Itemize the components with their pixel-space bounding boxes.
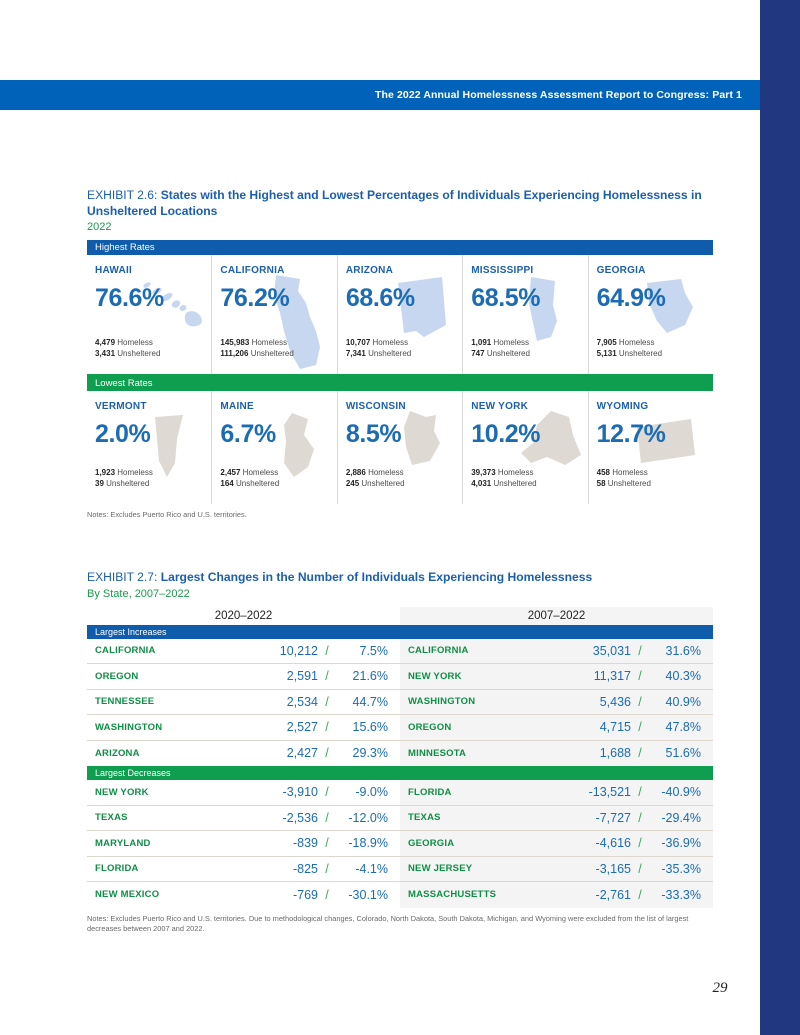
row-separator: /	[318, 836, 336, 850]
highest-rates-cards: HAWAII 76.6% 4,479 Homeless 3,431 Unshel…	[87, 255, 713, 376]
row-state: FLORIDA	[95, 863, 252, 874]
card-percent: 2.0%	[95, 420, 211, 448]
card-homeless-count: 7,905	[597, 338, 617, 347]
card-unsheltered-count: 5,131	[597, 349, 617, 358]
card-unsheltered-count: 58	[597, 479, 606, 488]
card-unsheltered-label: Unsheltered	[608, 479, 651, 488]
card-homeless-count: 2,886	[346, 468, 366, 477]
row-state: GEORGIA	[408, 838, 565, 849]
row-count: 2,534	[252, 695, 318, 709]
card-state-name: WISCONSIN	[346, 401, 462, 412]
state-card-new-york: NEW YORK 10.2% 39,373 Homeless 4,031 Uns…	[463, 391, 588, 504]
table-row: CALIFORNIA 10,212 / 7.5%	[87, 639, 400, 665]
card-unsheltered-label: Unsheltered	[236, 479, 279, 488]
exhibit-2-6-title-text: States with the Highest and Lowest Perce…	[87, 188, 702, 218]
card-percent: 76.6%	[95, 284, 211, 312]
state-card-georgia: GEORGIA 64.9% 7,905 Homeless 5,131 Unshe…	[589, 255, 713, 374]
exhibit-2-6: EXHIBIT 2.6: States with the Highest and…	[87, 188, 713, 520]
row-percent: 31.6%	[649, 644, 701, 658]
row-percent: -30.1%	[336, 888, 388, 902]
row-separator: /	[631, 669, 649, 683]
card-stats: 2,457 Homeless 164 Unsheltered	[220, 468, 279, 489]
card-unsheltered-count: 3,431	[95, 349, 115, 358]
table-row: OREGON 4,715 / 47.8%	[400, 715, 713, 741]
card-stats: 4,479 Homeless 3,431 Unsheltered	[95, 338, 160, 359]
state-card-mississippi: MISSISSIPPI 68.5% 1,091 Homeless 747 Uns…	[463, 255, 588, 374]
largest-increases-rows: CALIFORNIA 10,212 / 7.5% OREGON 2,591 / …	[87, 639, 713, 767]
row-count: -769	[252, 888, 318, 902]
card-state-name: CALIFORNIA	[220, 265, 336, 276]
table-row: NEW YORK -3,910 / -9.0%	[87, 780, 400, 806]
row-separator: /	[631, 695, 649, 709]
table-row: CALIFORNIA 35,031 / 31.6%	[400, 639, 713, 665]
exhibit-2-6-label: EXHIBIT 2.6:	[87, 188, 157, 202]
table-row: MINNESOTA 1,688 / 51.6%	[400, 741, 713, 767]
card-homeless-count: 1,091	[471, 338, 491, 347]
card-state-name: HAWAII	[95, 265, 211, 276]
largest-decreases-band: Largest Decreases	[87, 766, 713, 780]
table-row: TEXAS -7,727 / -29.4%	[400, 806, 713, 832]
row-percent: -18.9%	[336, 836, 388, 850]
card-state-name: MISSISSIPPI	[471, 265, 587, 276]
card-unsheltered-count: 747	[471, 349, 484, 358]
row-count: 10,212	[252, 644, 318, 658]
row-count: -825	[252, 862, 318, 876]
card-stats: 458 Homeless 58 Unsheltered	[597, 468, 651, 489]
row-percent: 7.5%	[336, 644, 388, 658]
card-homeless-label: Homeless	[612, 468, 648, 477]
row-percent: -36.9%	[649, 836, 701, 850]
row-percent: 29.3%	[336, 746, 388, 760]
largest-decreases-rows: NEW YORK -3,910 / -9.0% TEXAS -2,536 / -…	[87, 780, 713, 908]
row-state: CALIFORNIA	[95, 645, 252, 656]
card-unsheltered-label: Unsheltered	[106, 479, 149, 488]
row-separator: /	[631, 888, 649, 902]
row-state: OREGON	[95, 671, 252, 682]
row-state: WASHINGTON	[95, 722, 252, 733]
card-unsheltered-label: Unsheltered	[493, 479, 536, 488]
table-row: NEW JERSEY -3,165 / -35.3%	[400, 857, 713, 883]
row-state: OREGON	[408, 722, 565, 733]
row-percent: -33.3%	[649, 888, 701, 902]
state-card-vermont: VERMONT 2.0% 1,923 Homeless 39 Unshelter…	[87, 391, 212, 504]
card-unsheltered-count: 4,031	[471, 479, 491, 488]
card-stats: 145,983 Homeless 111,206 Unsheltered	[220, 338, 293, 359]
table-row: TENNESSEE 2,534 / 44.7%	[87, 690, 400, 716]
largest-decreases-band-right	[400, 766, 713, 780]
row-count: 5,436	[565, 695, 631, 709]
row-state: MARYLAND	[95, 838, 252, 849]
row-count: 2,591	[252, 669, 318, 683]
row-state: FLORIDA	[408, 787, 565, 798]
card-state-name: NEW YORK	[471, 401, 587, 412]
card-homeless-count: 1,923	[95, 468, 115, 477]
running-header-band: The 2022 Annual Homelessness Assessment …	[0, 80, 760, 110]
card-homeless-label: Homeless	[117, 468, 153, 477]
card-percent: 12.7%	[597, 420, 713, 448]
exhibit-2-7: EXHIBIT 2.7: Largest Changes in the Numb…	[87, 570, 713, 934]
largest-increases-right: CALIFORNIA 35,031 / 31.6% NEW YORK 11,31…	[400, 639, 713, 767]
card-unsheltered-label: Unsheltered	[117, 349, 160, 358]
page-edge-strip	[760, 0, 800, 1035]
row-count: 4,715	[565, 720, 631, 734]
row-state: NEW YORK	[95, 787, 252, 798]
exhibit-2-6-notes: Notes: Excludes Puerto Rico and U.S. ter…	[87, 510, 713, 520]
row-percent: 21.6%	[336, 669, 388, 683]
card-percent: 68.5%	[471, 284, 587, 312]
card-homeless-count: 145,983	[220, 338, 249, 347]
card-state-name: WYOMING	[597, 401, 713, 412]
exhibit-2-7-column-headers: 2020–2022 2007–2022	[87, 607, 713, 625]
row-separator: /	[631, 746, 649, 760]
table-row: OREGON 2,591 / 21.6%	[87, 664, 400, 690]
card-homeless-count: 4,479	[95, 338, 115, 347]
row-separator: /	[318, 644, 336, 658]
card-stats: 7,905 Homeless 5,131 Unsheltered	[597, 338, 662, 359]
row-separator: /	[318, 811, 336, 825]
exhibit-2-7-subtitle: By State, 2007–2022	[87, 587, 713, 601]
largest-decreases-right: FLORIDA -13,521 / -40.9% TEXAS -7,727 / …	[400, 780, 713, 908]
running-header-text: The 2022 Annual Homelessness Assessment …	[375, 89, 742, 101]
card-stats: 39,373 Homeless 4,031 Unsheltered	[471, 468, 536, 489]
card-percent: 6.7%	[220, 420, 336, 448]
row-count: -13,521	[565, 785, 631, 799]
column-header-2020-2022: 2020–2022	[87, 607, 400, 625]
card-stats: 2,886 Homeless 245 Unsheltered	[346, 468, 405, 489]
table-row: NEW MEXICO -769 / -30.1%	[87, 882, 400, 908]
table-row: WASHINGTON 5,436 / 40.9%	[400, 690, 713, 716]
card-homeless-label: Homeless	[252, 338, 288, 347]
highest-rates-band: Highest Rates	[87, 240, 713, 255]
table-row: WASHINGTON 2,527 / 15.6%	[87, 715, 400, 741]
state-card-wisconsin: WISCONSIN 8.5% 2,886 Homeless 245 Unshel…	[338, 391, 463, 504]
row-count: -3,910	[252, 785, 318, 799]
row-count: -2,536	[252, 811, 318, 825]
row-percent: -4.1%	[336, 862, 388, 876]
row-state: TENNESSEE	[95, 696, 252, 707]
column-header-2007-2022: 2007–2022	[400, 607, 713, 625]
row-separator: /	[318, 720, 336, 734]
card-unsheltered-label: Unsheltered	[487, 349, 530, 358]
row-separator: /	[318, 862, 336, 876]
row-count: -4,616	[565, 836, 631, 850]
row-count: -839	[252, 836, 318, 850]
exhibit-2-7-title-text: Largest Changes in the Number of Individ…	[161, 570, 592, 584]
row-state: CALIFORNIA	[408, 645, 565, 656]
card-unsheltered-label: Unsheltered	[368, 349, 411, 358]
row-percent: -40.9%	[649, 785, 701, 799]
card-homeless-label: Homeless	[493, 338, 529, 347]
exhibit-2-7-title: EXHIBIT 2.7: Largest Changes in the Numb…	[87, 570, 713, 586]
card-homeless-label: Homeless	[373, 338, 409, 347]
row-percent: -29.4%	[649, 811, 701, 825]
row-state: MINNESOTA	[408, 748, 565, 759]
state-card-california: CALIFORNIA 76.2% 145,983 Homeless 111,20…	[212, 255, 337, 374]
card-unsheltered-label: Unsheltered	[619, 349, 662, 358]
exhibit-2-6-title: EXHIBIT 2.6: States with the Highest and…	[87, 188, 713, 219]
row-separator: /	[631, 785, 649, 799]
row-percent: -9.0%	[336, 785, 388, 799]
table-row: MARYLAND -839 / -18.9%	[87, 831, 400, 857]
row-state: TEXAS	[408, 812, 565, 823]
row-separator: /	[318, 746, 336, 760]
largest-increases-left: CALIFORNIA 10,212 / 7.5% OREGON 2,591 / …	[87, 639, 400, 767]
card-stats: 1,923 Homeless 39 Unsheltered	[95, 468, 153, 489]
card-homeless-count: 458	[597, 468, 610, 477]
card-stats: 1,091 Homeless 747 Unsheltered	[471, 338, 530, 359]
row-percent: 40.3%	[649, 669, 701, 683]
row-percent: -35.3%	[649, 862, 701, 876]
row-separator: /	[318, 669, 336, 683]
table-row: NEW YORK 11,317 / 40.3%	[400, 664, 713, 690]
row-separator: /	[318, 695, 336, 709]
table-row: TEXAS -2,536 / -12.0%	[87, 806, 400, 832]
card-homeless-label: Homeless	[117, 338, 153, 347]
row-percent: 47.8%	[649, 720, 701, 734]
lowest-rates-band: Lowest Rates	[87, 376, 713, 391]
row-count: 2,427	[252, 746, 318, 760]
card-state-name: GEORGIA	[597, 265, 713, 276]
card-percent: 8.5%	[346, 420, 462, 448]
row-separator: /	[631, 720, 649, 734]
card-unsheltered-count: 245	[346, 479, 359, 488]
card-homeless-label: Homeless	[368, 468, 404, 477]
row-separator: /	[631, 836, 649, 850]
card-unsheltered-count: 164	[220, 479, 233, 488]
row-separator: /	[318, 785, 336, 799]
card-state-name: ARIZONA	[346, 265, 462, 276]
row-separator: /	[631, 862, 649, 876]
card-unsheltered-count: 39	[95, 479, 104, 488]
largest-decreases-band-label: Largest Decreases	[87, 766, 400, 780]
largest-increases-band-label: Largest Increases	[87, 625, 400, 639]
largest-decreases-left: NEW YORK -3,910 / -9.0% TEXAS -2,536 / -…	[87, 780, 400, 908]
row-count: 11,317	[565, 669, 631, 683]
table-row: FLORIDA -13,521 / -40.9%	[400, 780, 713, 806]
card-homeless-label: Homeless	[498, 468, 534, 477]
largest-increases-band-right	[400, 625, 713, 639]
row-percent: -12.0%	[336, 811, 388, 825]
row-count: -2,761	[565, 888, 631, 902]
row-percent: 44.7%	[336, 695, 388, 709]
state-card-arizona: ARIZONA 68.6% 10,707 Homeless 7,341 Unsh…	[338, 255, 463, 374]
row-separator: /	[631, 644, 649, 658]
card-state-name: MAINE	[220, 401, 336, 412]
card-homeless-label: Homeless	[619, 338, 655, 347]
state-card-hawaii: HAWAII 76.6% 4,479 Homeless 3,431 Unshel…	[87, 255, 212, 374]
row-separator: /	[318, 888, 336, 902]
state-card-maine: MAINE 6.7% 2,457 Homeless 164 Unsheltere…	[212, 391, 337, 504]
row-state: NEW MEXICO	[95, 889, 252, 900]
row-state: NEW YORK	[408, 671, 565, 682]
table-row: MASSACHUSETTS -2,761 / -33.3%	[400, 882, 713, 908]
card-unsheltered-count: 111,206	[220, 349, 248, 358]
row-state: ARIZONA	[95, 748, 252, 759]
lowest-rates-cards: VERMONT 2.0% 1,923 Homeless 39 Unshelter…	[87, 391, 713, 504]
row-state: NEW JERSEY	[408, 863, 565, 874]
card-homeless-count: 2,457	[220, 468, 240, 477]
card-unsheltered-count: 7,341	[346, 349, 366, 358]
row-percent: 51.6%	[649, 746, 701, 760]
exhibit-2-7-notes: Notes: Excludes Puerto Rico and U.S. ter…	[87, 914, 705, 934]
state-card-wyoming: WYOMING 12.7% 458 Homeless 58 Unsheltere…	[589, 391, 713, 504]
row-percent: 40.9%	[649, 695, 701, 709]
table-row: GEORGIA -4,616 / -36.9%	[400, 831, 713, 857]
row-count: -3,165	[565, 862, 631, 876]
exhibit-2-7-label: EXHIBIT 2.7:	[87, 570, 157, 584]
card-percent: 10.2%	[471, 420, 587, 448]
row-count: -7,727	[565, 811, 631, 825]
card-unsheltered-label: Unsheltered	[361, 479, 404, 488]
card-percent: 76.2%	[220, 284, 336, 312]
card-homeless-label: Homeless	[243, 468, 279, 477]
row-percent: 15.6%	[336, 720, 388, 734]
row-count: 35,031	[565, 644, 631, 658]
row-separator: /	[631, 811, 649, 825]
row-count: 2,527	[252, 720, 318, 734]
largest-increases-band: Largest Increases	[87, 625, 713, 639]
card-state-name: VERMONT	[95, 401, 211, 412]
row-state: TEXAS	[95, 812, 252, 823]
exhibit-2-6-subtitle: 2022	[87, 220, 713, 234]
row-count: 1,688	[565, 746, 631, 760]
page-number: 29	[700, 980, 740, 997]
card-stats: 10,707 Homeless 7,341 Unsheltered	[346, 338, 411, 359]
exhibit-2-7-table: 2020–2022 2007–2022 Largest Increases CA…	[87, 607, 713, 908]
table-row: FLORIDA -825 / -4.1%	[87, 857, 400, 883]
row-state: WASHINGTON	[408, 696, 565, 707]
card-homeless-count: 39,373	[471, 468, 495, 477]
card-unsheltered-label: Unsheltered	[251, 349, 294, 358]
card-percent: 64.9%	[597, 284, 713, 312]
card-percent: 68.6%	[346, 284, 462, 312]
row-state: MASSACHUSETTS	[408, 889, 565, 900]
card-homeless-count: 10,707	[346, 338, 370, 347]
table-row: ARIZONA 2,427 / 29.3%	[87, 741, 400, 767]
